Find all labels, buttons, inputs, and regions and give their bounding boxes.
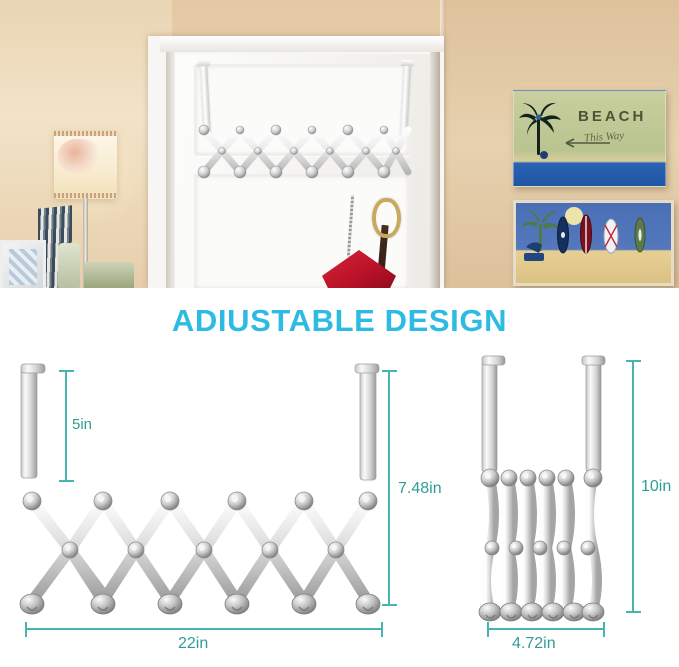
lamp-shade [54,131,117,199]
surfboard-painting-art [513,200,674,286]
brass-ring [372,198,401,238]
dimension-line-compressed-width [487,628,605,630]
hanger-arm-right-compressed [582,356,605,472]
compressed-top-joints [481,469,602,487]
dim-cap-right [381,622,383,637]
desk-object [84,262,134,288]
dim-cap-top [626,360,641,362]
bottom-hooks [20,594,380,614]
dim-cap-right [603,622,605,637]
dimension-label-22in: 22in [178,635,208,653]
hanger-arm-right [355,364,379,480]
dim-cap-bottom [626,611,641,613]
lifestyle-photo: BEACH This Way [0,0,679,288]
dimension-line-extended-height [388,370,390,606]
dim-cap-top [59,370,74,372]
dimension-label-10in: 10in [641,478,671,496]
dim-cap-bottom [59,480,74,482]
rack-extended-view [8,358,408,623]
surfboards-icon [516,203,666,278]
cordless-phone [58,243,80,288]
dim-cap-bottom [382,604,397,606]
middle-joint-highlights [65,545,337,551]
rack-compressed-view [470,350,630,625]
hanger-lip-left [197,60,210,67]
product-image-root: BEACH This Way [0,0,679,667]
dim-cap-left [25,622,27,637]
dimension-label-5in: 5in [72,416,92,433]
beach-sign-title: BEACH [578,108,646,125]
dim-cap-top [382,370,397,372]
door-edge-left [166,40,175,288]
top-joint-highlights [27,496,369,502]
diagram-section: ADIUSTABLE DESIGN [0,288,679,667]
hanger-lip-right [401,60,414,67]
beach-sign-art: BEACH This Way [513,90,666,187]
dim-cap-left [487,622,489,637]
dimension-label-4-72in: 4.72in [512,635,556,653]
compressed-middle-joints [485,541,595,555]
hanger-arm-left [21,364,45,478]
dimension-label-7-48in: 7.48in [398,480,442,498]
door-edge-right [430,48,440,288]
dimension-line-compressed-height [632,360,634,613]
door-top-rail [160,36,444,52]
hanger-arm-left-compressed [482,356,505,472]
dimension-line-hanger-height [65,370,67,482]
picture-frame [0,240,46,288]
page-title: ADIUSTABLE DESIGN [0,303,679,339]
dimension-line-extended-width [25,628,383,630]
top-joints [23,492,377,510]
